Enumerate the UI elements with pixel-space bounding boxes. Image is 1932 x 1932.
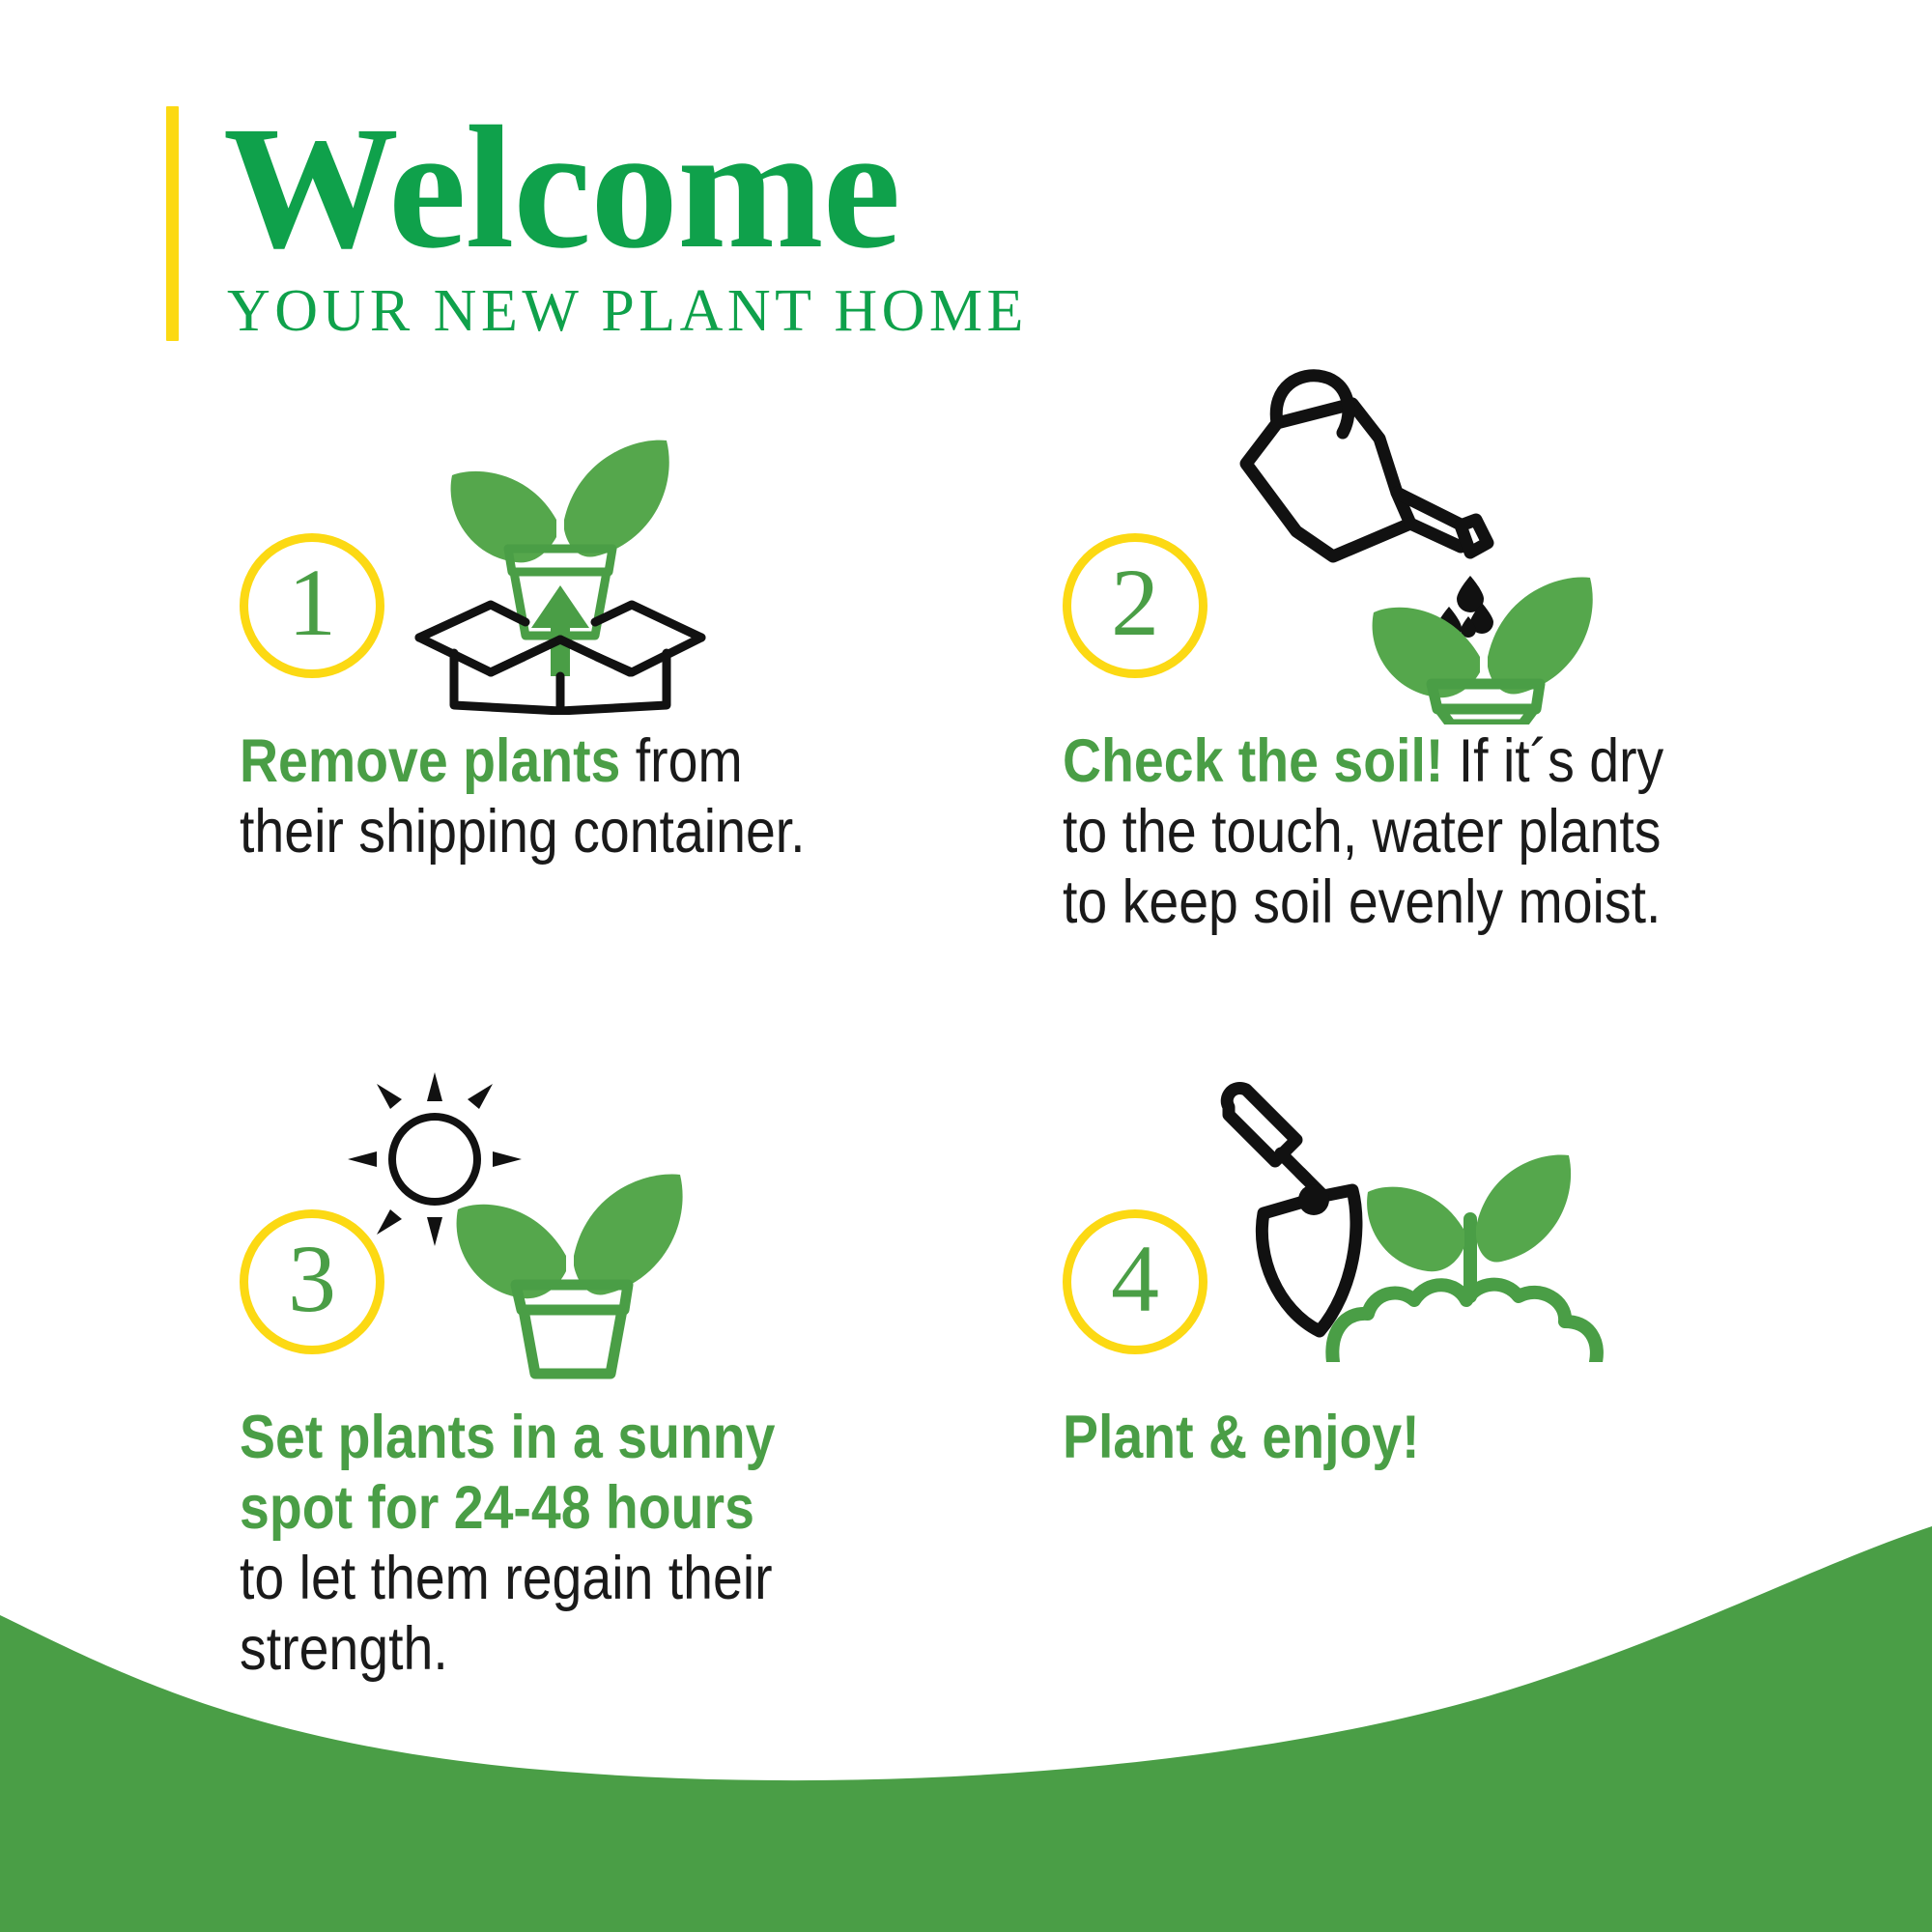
watering-can-plant-icon [1207, 348, 1633, 729]
header: Welcome YOUR NEW PLANT HOME [166, 106, 1028, 341]
step-2: 2 [1063, 415, 1835, 938]
step-1-highlight: Remove plants [240, 727, 620, 795]
step-4: 4 [1063, 1092, 1835, 1473]
sun-plant-icon [327, 1072, 713, 1386]
step-2-highlight: Check the soil! [1063, 727, 1443, 795]
step-3-highlight: Set plants in a sunny spot for 24-48 hou… [240, 1404, 776, 1542]
trowel-seedling-icon [1207, 1072, 1633, 1367]
bottom-green-wave [0, 1526, 1932, 1932]
step-1-text: Remove plants from their shipping contai… [240, 726, 886, 867]
trowel [1227, 1089, 1356, 1331]
step-2-number: 2 [1111, 554, 1159, 651]
step-1-number-badge: 1 [240, 533, 384, 678]
step-4-number: 4 [1111, 1231, 1159, 1327]
step-4-text: Plant & enjoy! [1063, 1403, 1743, 1473]
step-4-highlight: Plant & enjoy! [1063, 1404, 1420, 1471]
step-3-icon-row: 3 [240, 1092, 974, 1381]
step-4-icon-row: 4 [1063, 1092, 1835, 1381]
header-text-block: Welcome YOUR NEW PLANT HOME [223, 106, 1028, 341]
infographic-canvas: Welcome YOUR NEW PLANT HOME 1 [0, 0, 1932, 1932]
step-1-number: 1 [288, 554, 336, 651]
page-subtitle: YOUR NEW PLANT HOME [227, 281, 1028, 341]
step-1-icon-row: 1 [240, 415, 974, 705]
step-2-icon-row: 2 [1063, 415, 1835, 705]
page-title: Welcome [223, 106, 1028, 270]
step-2-number-badge: 2 [1063, 533, 1207, 678]
step-1: 1 [240, 415, 974, 867]
step-2-text: Check the soil! If it´s dry to the touch… [1063, 726, 1743, 938]
yellow-accent-bar [166, 106, 179, 341]
step-4-number-badge: 4 [1063, 1209, 1207, 1354]
plant-in-box-icon [384, 396, 732, 720]
